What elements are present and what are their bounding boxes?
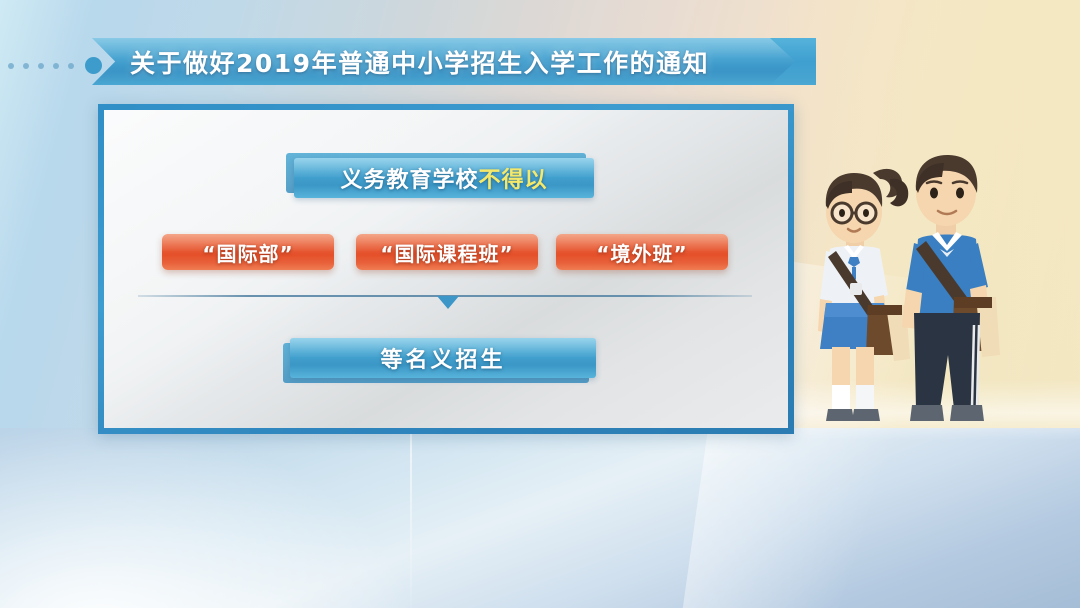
top-banner-highlight-text: 不得以 xyxy=(479,168,548,193)
chip-label: “境外班” xyxy=(596,238,687,267)
title-dots-decoration xyxy=(8,57,102,74)
chip-overseas-class[interactable]: “境外班” xyxy=(556,234,728,270)
bottom-banner: 等名义招生 xyxy=(290,338,596,378)
top-banner-main-text: 义务教育学校 xyxy=(340,168,478,193)
top-banner-text: 义务教育学校不得以 xyxy=(340,162,547,194)
top-banner: 义务教育学校不得以 xyxy=(294,158,594,198)
content-panel: 义务教育学校不得以 “国际部” “国际课程班” “境外班” 等名义招生 xyxy=(98,104,794,434)
chevron-down-icon xyxy=(437,296,459,309)
dot-3 xyxy=(38,63,44,69)
chip-label: “国际课程班” xyxy=(380,238,513,267)
bottom-banner-text: 等名义招生 xyxy=(380,342,505,374)
dot-1 xyxy=(8,63,14,69)
dot-large xyxy=(85,57,102,74)
chip-international-course-class[interactable]: “国际课程班” xyxy=(356,234,538,270)
chip-label: “国际部” xyxy=(202,238,293,267)
dot-2 xyxy=(23,63,29,69)
boy-student xyxy=(902,155,1000,421)
page-title: 关于做好2019年普通中小学招生入学工作的通知 xyxy=(130,38,790,85)
dot-5 xyxy=(68,63,74,69)
background-vertical-seam xyxy=(410,430,412,608)
girl-student xyxy=(818,169,910,421)
students-illustration xyxy=(790,155,1010,455)
broadcast-graphic-stage: 关于做好2019年普通中小学招生入学工作的通知 义务教育学校不得以 “国际部” … xyxy=(0,0,1080,608)
chip-international-department[interactable]: “国际部” xyxy=(162,234,334,270)
dot-4 xyxy=(53,63,59,69)
